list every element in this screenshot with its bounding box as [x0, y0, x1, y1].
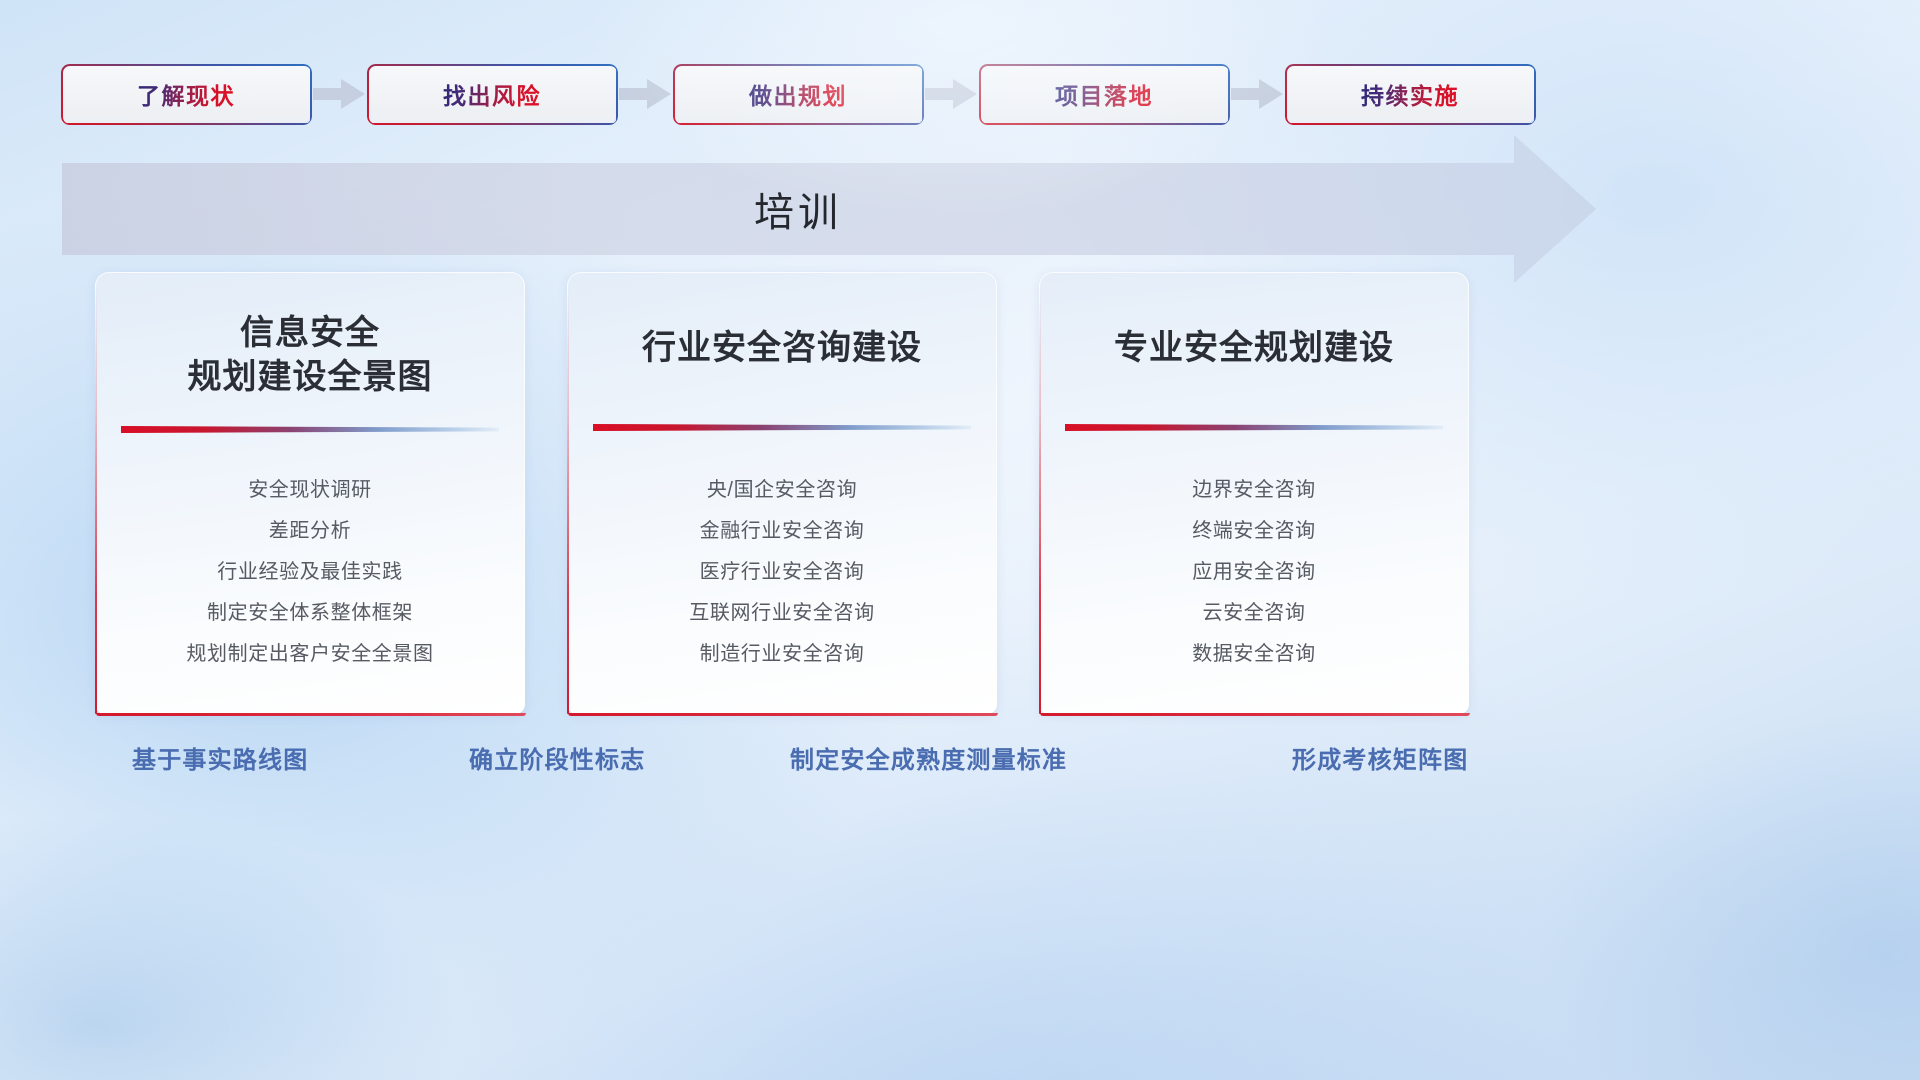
- list-item: 安全现状调研: [95, 470, 525, 511]
- banner-title: 培训: [62, 163, 1514, 255]
- step-chip-5[interactable]: 持续实施: [1286, 65, 1534, 123]
- list-item: 终端安全咨询: [1039, 511, 1469, 552]
- card-bottom-accent: [568, 713, 998, 716]
- list-item: 医疗行业安全咨询: [567, 552, 997, 593]
- footer-label-maturity-standard: 制定安全成熟度测量标准: [790, 740, 1067, 775]
- footer-label-assessment-matrix: 形成考核矩阵图: [1292, 740, 1468, 775]
- list-item: 互联网行业安全咨询: [567, 593, 997, 634]
- footer-label-roadmap: 基于事实路线图: [132, 740, 308, 775]
- step-label-4: 项目落地: [1055, 77, 1153, 111]
- step-label-3: 做出规划: [749, 77, 847, 111]
- card-title: 行业安全咨询建设: [567, 327, 997, 371]
- list-item: 制定安全体系整体框架: [95, 593, 525, 634]
- card-title: 专业安全规划建设: [1039, 327, 1469, 371]
- list-item: 行业经验及最佳实践: [95, 552, 525, 593]
- footer-label-row: 基于事实路线图 确立阶段性标志 制定安全成熟度测量标准 形成考核矩阵图: [0, 740, 1920, 790]
- list-item: 应用安全咨询: [1039, 552, 1469, 593]
- step-label-1: 了解现状: [137, 77, 235, 111]
- card-title-line-1: 行业安全咨询建设: [567, 327, 997, 371]
- card-professional-security-planning[interactable]: 专业安全规划建设: [1039, 272, 1469, 714]
- list-item: 规划制定出客户安全全景图: [95, 634, 525, 675]
- card-title-line-1: 专业安全规划建设: [1039, 327, 1469, 371]
- step-arrow-icon-3: [923, 77, 979, 111]
- list-item: 金融行业安全咨询: [567, 511, 997, 552]
- step-chip-3[interactable]: 做出规划: [674, 65, 922, 123]
- card-divider-gradient: [1065, 422, 1443, 431]
- step-label-2: 找出风险: [443, 77, 541, 111]
- list-item: 制造行业安全咨询: [567, 634, 997, 675]
- training-banner-arrow: 培训: [62, 163, 1514, 255]
- card-list: 央/国企安全咨询 金融行业安全咨询 医疗行业安全咨询 互联网行业安全咨询 制造行…: [567, 470, 997, 675]
- slide-canvas: 了解现状 找出风险 做出规划 项目落地: [0, 0, 1920, 1080]
- card-title-line-2: 规划建设全景图: [95, 356, 525, 400]
- footer-label-milestones: 确立阶段性标志: [469, 740, 645, 775]
- card-divider-gradient: [593, 422, 971, 431]
- step-arrow-icon-4: [1229, 77, 1285, 111]
- list-item: 数据安全咨询: [1039, 634, 1469, 675]
- card-bottom-accent: [96, 713, 526, 716]
- card-row: 信息安全 规划建设全景图: [0, 272, 1920, 722]
- card-information-security-blueprint[interactable]: 信息安全 规划建设全景图: [95, 272, 525, 714]
- banner-arrow-tip-icon: [1514, 135, 1596, 283]
- process-step-row: 了解现状 找出风险 做出规划 项目落地: [62, 64, 1862, 124]
- step-chip-4[interactable]: 项目落地: [980, 65, 1228, 123]
- step-arrow-icon-2: [617, 77, 673, 111]
- card-list: 边界安全咨询 终端安全咨询 应用安全咨询 云安全咨询 数据安全咨询: [1039, 470, 1469, 675]
- card-industry-security-consulting[interactable]: 行业安全咨询建设: [567, 272, 997, 714]
- list-item: 边界安全咨询: [1039, 470, 1469, 511]
- card-title-line-1: 信息安全: [95, 312, 525, 356]
- step-chip-1[interactable]: 了解现状: [62, 65, 310, 123]
- step-label-5: 持续实施: [1361, 77, 1459, 111]
- step-chip-2[interactable]: 找出风险: [368, 65, 616, 123]
- card-title: 信息安全 规划建设全景图: [95, 312, 525, 399]
- card-list: 安全现状调研 差距分析 行业经验及最佳实践 制定安全体系整体框架 规划制定出客户…: [95, 470, 525, 675]
- card-bottom-accent: [1040, 713, 1470, 716]
- list-item: 差距分析: [95, 511, 525, 552]
- card-divider-gradient: [121, 424, 499, 433]
- list-item: 央/国企安全咨询: [567, 470, 997, 511]
- list-item: 云安全咨询: [1039, 593, 1469, 634]
- step-arrow-icon-1: [311, 77, 367, 111]
